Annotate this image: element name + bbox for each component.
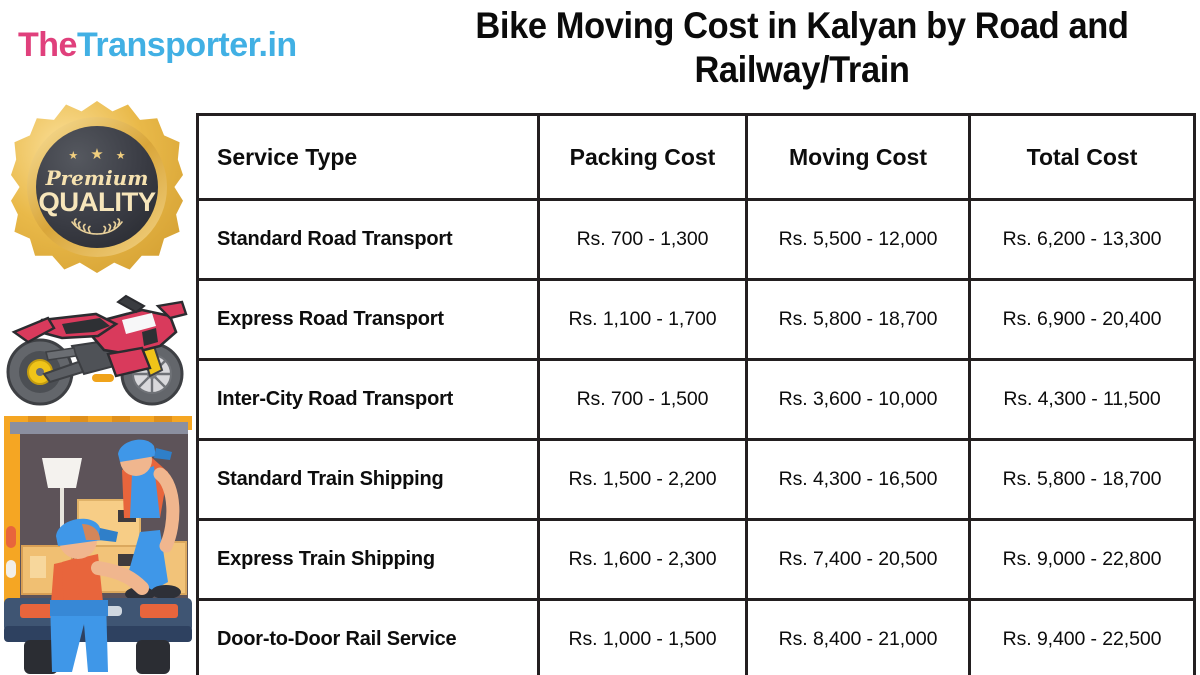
badge-stars-icon: ★★★: [36, 145, 158, 163]
brand-logo[interactable]: TheTransporter.in: [18, 28, 297, 62]
laurel-wreath-icon: [36, 218, 158, 240]
cell-total-cost: Rs. 6,200 - 13,300: [970, 200, 1195, 280]
cell-moving-cost: Rs. 5,500 - 12,000: [747, 200, 970, 280]
table-row: Inter-City Road Transport Rs. 700 - 1,50…: [198, 360, 1195, 440]
column-header-moving-cost: Moving Cost: [747, 115, 970, 200]
cell-moving-cost: Rs. 7,400 - 20,500: [747, 520, 970, 600]
table-row: Door-to-Door Rail Service Rs. 1,000 - 1,…: [198, 600, 1195, 675]
cell-service-type: Express Train Shipping: [198, 520, 539, 600]
table-row: Express Road Transport Rs. 1,100 - 1,700…: [198, 280, 1195, 360]
badge-face: ★★★ Premium QUALITY: [36, 126, 158, 248]
cell-total-cost: Rs. 9,400 - 22,500: [970, 600, 1195, 675]
cell-total-cost: Rs. 5,800 - 18,700: [970, 440, 1195, 520]
cell-service-type: Door-to-Door Rail Service: [198, 600, 539, 675]
cell-service-type: Standard Road Transport: [198, 200, 539, 280]
cell-service-type: Standard Train Shipping: [198, 440, 539, 520]
bike-moving-cost-table: Service Type Packing Cost Moving Cost To…: [196, 113, 1196, 675]
cell-moving-cost: Rs. 8,400 - 21,000: [747, 600, 970, 675]
infographic-page: TheTransporter.in Bike Moving Cost in Ka…: [0, 0, 1200, 675]
column-header-packing-cost: Packing Cost: [539, 115, 747, 200]
cell-packing-cost: Rs. 1,100 - 1,700: [539, 280, 747, 360]
table-header-row: Service Type Packing Cost Moving Cost To…: [198, 115, 1195, 200]
badge-quality-label: QUALITY: [36, 187, 158, 218]
cell-moving-cost: Rs. 4,300 - 16,500: [747, 440, 970, 520]
cell-service-type: Express Road Transport: [198, 280, 539, 360]
page-title: Bike Moving Cost in Kalyan by Road and R…: [447, 4, 1158, 92]
cell-total-cost: Rs. 9,000 - 22,800: [970, 520, 1195, 600]
table-row: Standard Road Transport Rs. 700 - 1,300 …: [198, 200, 1195, 280]
cell-packing-cost: Rs. 1,600 - 2,300: [539, 520, 747, 600]
brand-logo-suffix: Transporter.in: [77, 26, 297, 64]
cell-total-cost: Rs. 4,300 - 11,500: [970, 360, 1195, 440]
cell-packing-cost: Rs. 1,000 - 1,500: [539, 600, 747, 675]
premium-quality-badge: ★★★ Premium QUALITY: [8, 94, 186, 280]
cell-total-cost: Rs. 6,900 - 20,400: [970, 280, 1195, 360]
cell-moving-cost: Rs. 5,800 - 18,700: [747, 280, 970, 360]
table-row: Standard Train Shipping Rs. 1,500 - 2,20…: [198, 440, 1195, 520]
column-header-service-type: Service Type: [198, 115, 539, 200]
table-row: Express Train Shipping Rs. 1,600 - 2,300…: [198, 520, 1195, 600]
motorcycle-illustration: [0, 280, 192, 412]
cell-packing-cost: Rs. 700 - 1,300: [539, 200, 747, 280]
brand-logo-prefix: The: [18, 26, 77, 64]
cell-service-type: Inter-City Road Transport: [198, 360, 539, 440]
truck-loading-illustration: [0, 414, 192, 675]
cell-packing-cost: Rs. 700 - 1,500: [539, 360, 747, 440]
column-header-total-cost: Total Cost: [970, 115, 1195, 200]
cell-packing-cost: Rs. 1,500 - 2,200: [539, 440, 747, 520]
cell-moving-cost: Rs. 3,600 - 10,000: [747, 360, 970, 440]
illustration-rail: ★★★ Premium QUALITY: [0, 92, 192, 675]
